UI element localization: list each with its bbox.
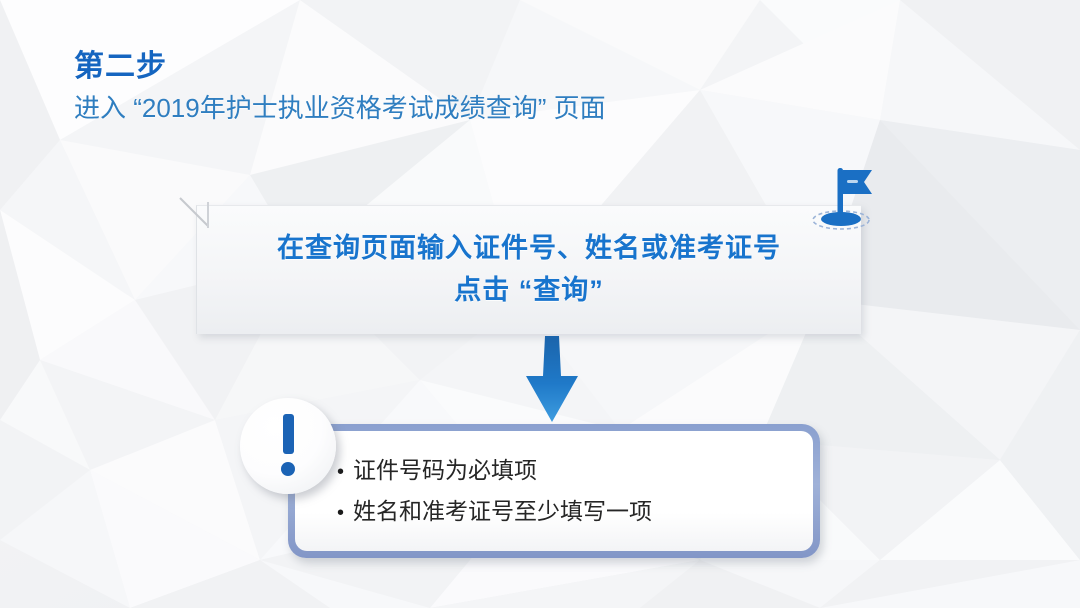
instruction-line-2: 点击 “查询” <box>454 270 604 312</box>
folded-corner-decoration <box>178 196 212 230</box>
note-box: • 证件号码为必填项 • 姓名和准考证号至少填写一项 <box>288 424 820 558</box>
instruction-line-1: 在查询页面输入证件号、姓名或准考证号 <box>277 228 781 270</box>
step-subtitle: 进入 “2019年护士执业资格考试成绩查询” 页面 <box>74 92 606 126</box>
step-label: 第二步 <box>74 48 606 86</box>
slide-canvas: 第二步 进入 “2019年护士执业资格考试成绩查询” 页面 在查询页面输入证件号… <box>0 0 1080 608</box>
note-item-text: 姓名和准考证号至少填写一项 <box>353 498 652 524</box>
exclamation-dot <box>281 462 295 476</box>
note-item: • 证件号码为必填项 <box>337 457 795 484</box>
bullet-icon: • <box>337 502 353 525</box>
note-box-inner: • 证件号码为必填项 • 姓名和准考证号至少填写一项 <box>295 431 813 551</box>
exclamation-bar <box>283 414 294 454</box>
exclamation-mark <box>281 414 295 476</box>
flag-icon <box>800 160 882 232</box>
down-arrow-icon <box>523 336 581 422</box>
bullet-icon: • <box>337 461 353 484</box>
exclamation-icon <box>240 398 336 494</box>
slide-header: 第二步 进入 “2019年护士执业资格考试成绩查询” 页面 <box>74 48 606 125</box>
instruction-box: 在查询页面输入证件号、姓名或准考证号 点击 “查询” <box>196 205 861 334</box>
note-item-text: 证件号码为必填项 <box>353 457 537 483</box>
note-item: • 姓名和准考证号至少填写一项 <box>337 498 795 525</box>
